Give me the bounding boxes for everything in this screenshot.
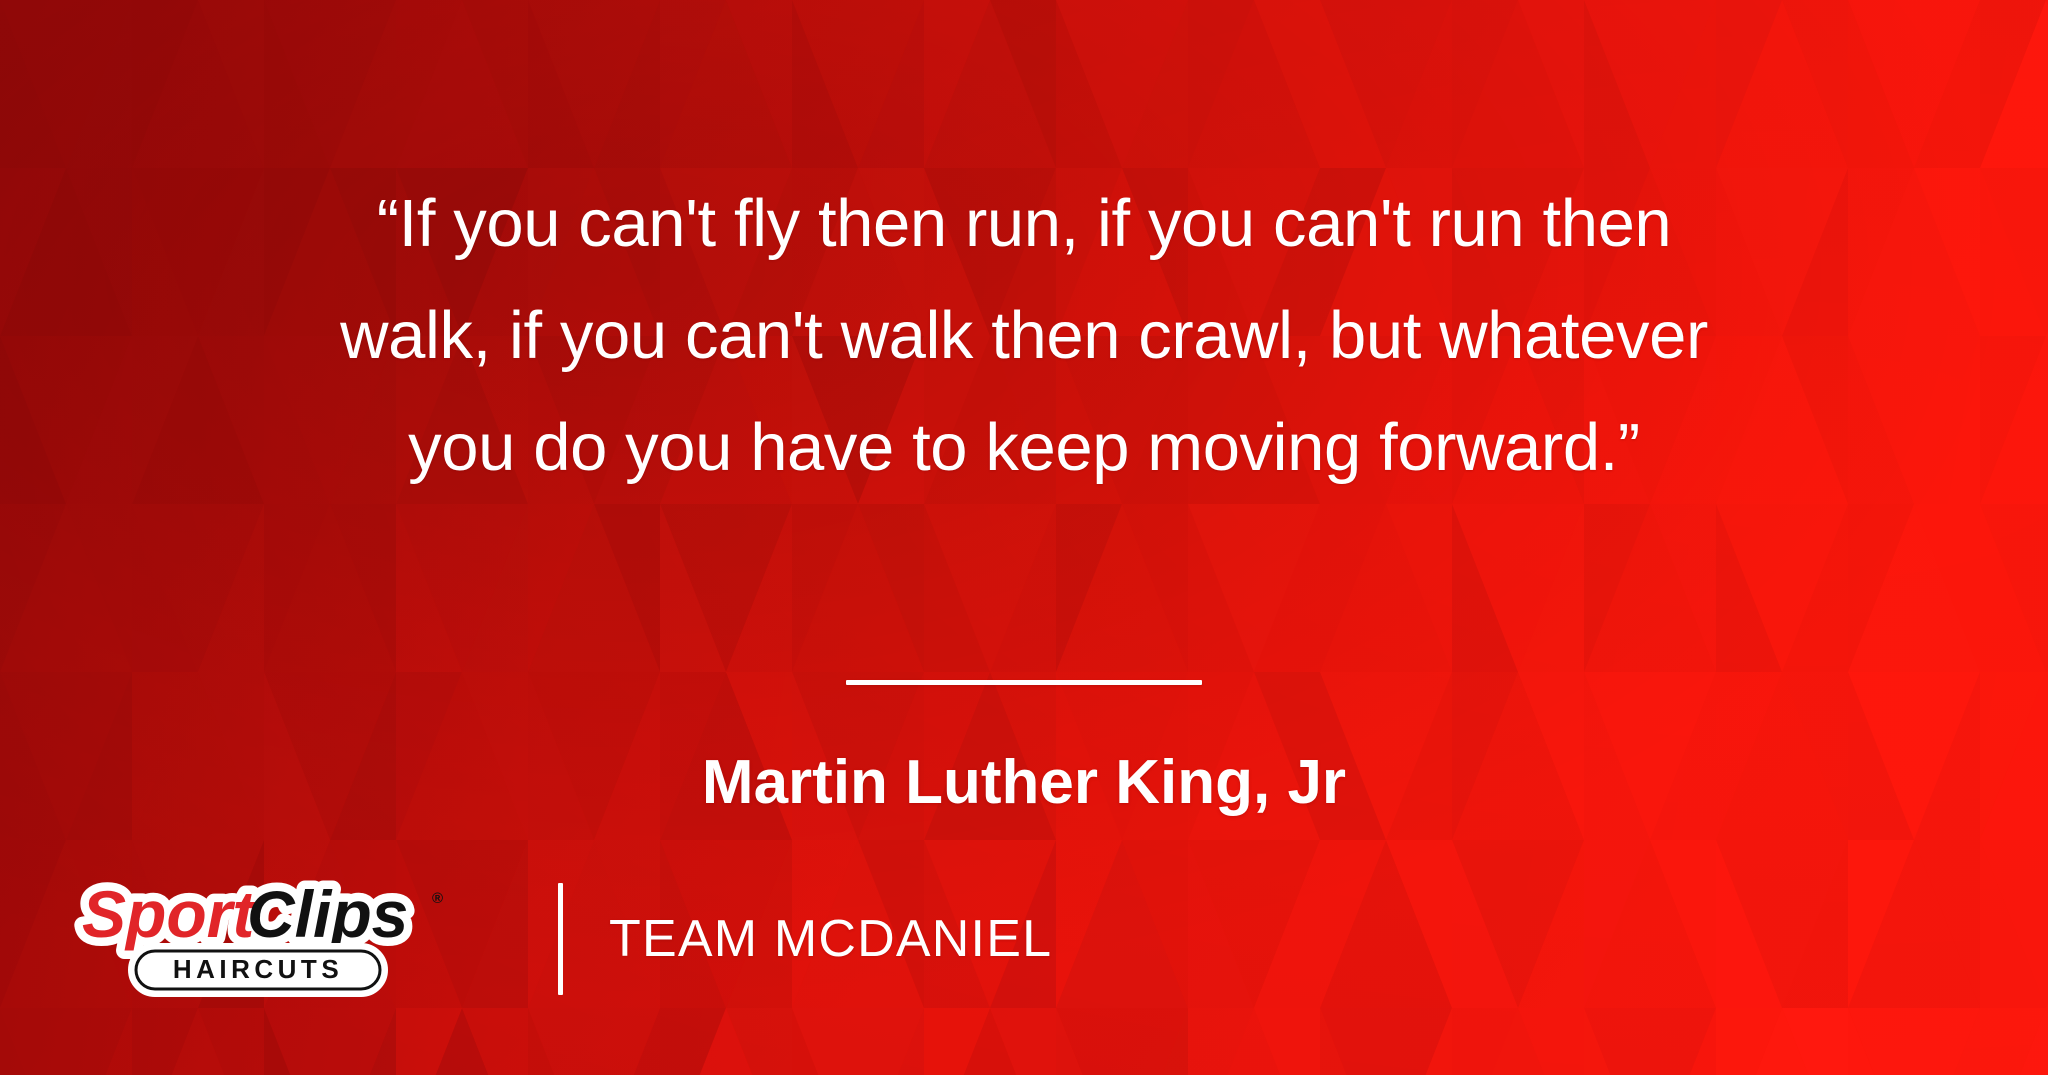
footer-branding-bar: Sport Clips Sport Clips ® HAIRCUTS xyxy=(74,875,1052,1003)
logo-haircuts-pill: HAIRCUTS xyxy=(134,949,382,991)
quote-line-1: “If you can't fly then run, if you can't… xyxy=(70,168,1978,280)
logo-word-sport: Sport xyxy=(82,877,257,951)
quote-graphic-canvas: “If you can't fly then run, if you can't… xyxy=(0,0,2048,1075)
quote-text-block: “If you can't fly then run, if you can't… xyxy=(0,168,2048,504)
logo-word-clips: Clips xyxy=(247,877,408,951)
attribution-author-name: Martin Luther King, Jr xyxy=(0,740,2048,826)
footer-team-name: TEAM MCDANIEL xyxy=(609,909,1052,969)
quote-line-3: you do you have to keep moving forward.” xyxy=(70,392,1978,504)
logo-tagline-haircuts: HAIRCUTS xyxy=(173,954,343,984)
divider-rule-line xyxy=(846,680,1202,685)
registered-trademark-icon: ® xyxy=(432,890,443,907)
quote-line-2: walk, if you can't walk then crawl, but … xyxy=(70,280,1978,392)
sport-clips-logo: Sport Clips Sport Clips ® HAIRCUTS xyxy=(74,875,514,1003)
attribution-block: Martin Luther King, Jr xyxy=(0,740,2048,826)
footer-vertical-divider xyxy=(558,883,563,995)
quote-divider xyxy=(0,680,2048,685)
